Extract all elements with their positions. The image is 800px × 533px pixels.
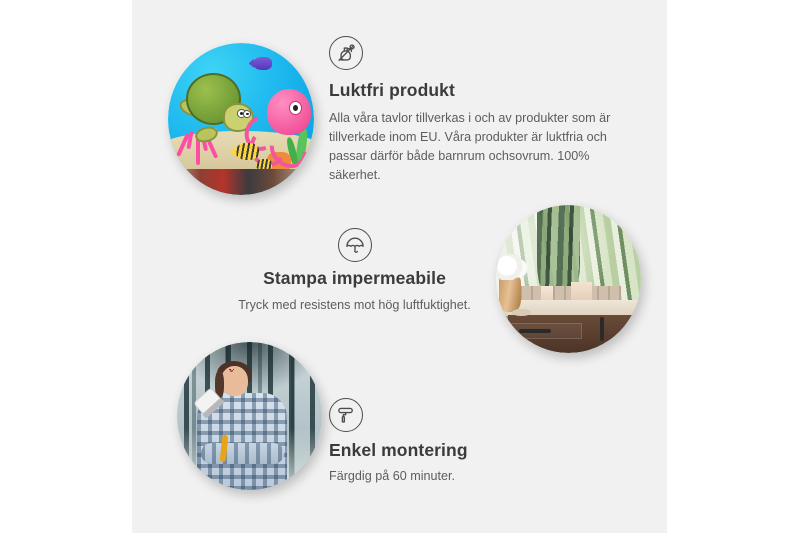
- feature-image-underwater[interactable]: [168, 43, 314, 195]
- feature-description: Tryck med resistens mot hög luftfuktighe…: [192, 296, 517, 315]
- feature-image-woman-roller[interactable]: [177, 342, 322, 490]
- octopus: [250, 89, 311, 159]
- feature-block-odourless: Luktfri produkt Alla våra tavlor tillver…: [329, 36, 611, 185]
- paint-roller-icon: [329, 398, 363, 432]
- turtle: [186, 73, 253, 134]
- product-feature-banner: Luktfri produkt Alla våra tavlor tillver…: [0, 0, 800, 533]
- woman-figure: [197, 366, 287, 490]
- door-handle: [600, 317, 604, 341]
- feature-title: Luktfri produkt: [329, 80, 611, 102]
- feature-block-easy-install: Enkel montering Färgdig på 60 minuter.: [329, 398, 629, 486]
- feature-image-bathroom[interactable]: [496, 205, 641, 353]
- feature-title: Enkel montering: [329, 440, 629, 462]
- no-odour-icon: [329, 36, 363, 70]
- room-furniture-band: [168, 169, 314, 195]
- striped-fish: [235, 143, 258, 160]
- umbrella-icon: [338, 228, 372, 262]
- content-panel: Luktfri produkt Alla våra tavlor tillver…: [132, 0, 667, 533]
- drawer-handle: [519, 329, 551, 333]
- feature-title: Stampa impermeabile: [192, 268, 517, 290]
- feature-description: Färgdig på 60 minuter.: [329, 467, 629, 486]
- purple-fish: [253, 57, 272, 71]
- feature-description: Alla våra tavlor tillverkas i och av pro…: [329, 109, 611, 186]
- feature-block-waterproof: Stampa impermeabile Tryck med resistens …: [192, 228, 517, 315]
